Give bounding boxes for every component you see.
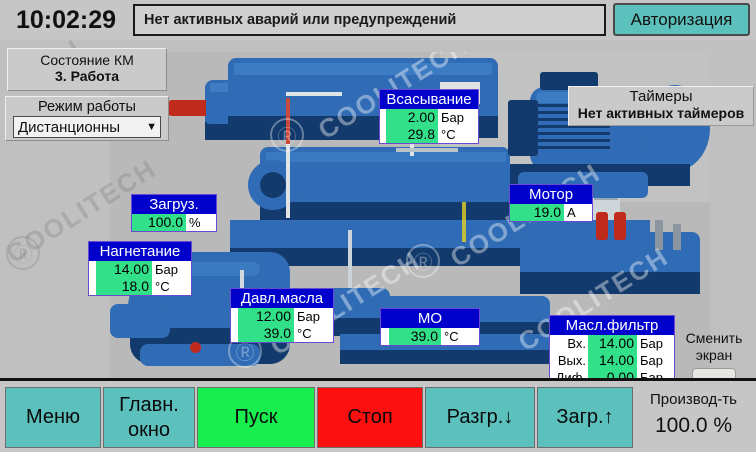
oil-filter-row-differential: Диф. 0.00 Бар	[550, 369, 674, 378]
motor-title: Мотор	[510, 185, 592, 204]
main-window-label-line1: Главн.	[119, 393, 179, 418]
load-measurement-box[interactable]: Загруз. 100.0 %	[131, 194, 217, 232]
timers-value: Нет активных таймеров	[569, 105, 753, 121]
load-unit: %	[186, 214, 216, 231]
oil-filter-row-inlet: Вх. 14.00 Бар	[550, 335, 674, 352]
oil-pressure-value: 12.00	[238, 308, 294, 325]
suction-measurement-box[interactable]: Всасывание 2.00 Бар 29.8 °C	[379, 89, 479, 144]
oil-temperature-value: 39.0	[238, 325, 294, 342]
oil-temperature-unit: °C	[294, 325, 333, 342]
main-window-label-line2: окно	[119, 418, 179, 443]
operating-mode-value: Дистанционны	[18, 119, 120, 136]
oil-filter-outlet-label: Вых.	[550, 352, 588, 369]
oil-pressure-unit: Бар	[294, 308, 333, 325]
operating-mode-select[interactable]: Дистанционны ▼	[13, 116, 161, 138]
oil-filter-diff-value: 0.00	[588, 369, 637, 378]
oil-filter-inlet-unit: Бар	[637, 335, 673, 352]
suction-temperature-unit: °C	[438, 126, 478, 143]
discharge-title: Нагнетание	[89, 242, 191, 261]
oil-filter-diff-unit: Бар	[637, 369, 673, 378]
suction-row-pressure: 2.00 Бар	[380, 109, 478, 126]
discharge-pressure-value: 14.00	[96, 261, 152, 278]
oil-pressure-title: Давл.масла	[231, 289, 333, 308]
clock-display: 10:02:29	[0, 0, 132, 40]
motor-current-unit: A	[564, 204, 592, 221]
discharge-temperature-value: 18.0	[96, 278, 152, 295]
suction-row-temperature: 29.8 °C	[380, 126, 478, 143]
load-row: 100.0 %	[132, 214, 216, 231]
hmi-screen: 10:02:29 Нет активных аварий или предупр…	[0, 0, 756, 452]
main-window-button[interactable]: Главн. окно	[103, 387, 195, 448]
discharge-pressure-unit: Бар	[152, 261, 191, 278]
oil-filter-title: Масл.фильтр	[550, 316, 674, 335]
oil-pressure-measurement-box[interactable]: Давл.масла 12.00 Бар 39.0 °C	[230, 288, 334, 343]
discharge-row-pressure: 14.00 Бар	[89, 261, 191, 278]
oil-filter-measurement-box[interactable]: Масл.фильтр Вх. 14.00 Бар Вых. 14.00 Бар…	[549, 315, 675, 378]
oil-filter-inlet-value: 14.00	[588, 335, 637, 352]
oil-filter-inlet-label: Вх.	[550, 335, 588, 352]
change-screen-label-line1: Сменить	[678, 330, 750, 347]
change-screen-control[interactable]: Сменить экран	[678, 330, 750, 378]
mo-temperature-value: 39.0	[389, 328, 441, 345]
load-value: 100.0	[132, 214, 186, 231]
mo-row-temperature: 39.0 °C	[381, 328, 479, 345]
mo-measurement-box[interactable]: МО 39.0 °C	[380, 308, 480, 346]
timers-title: Таймеры	[569, 88, 753, 105]
km-state-value: 3. Работа	[8, 68, 166, 84]
motor-row-current: 19.0 A	[510, 204, 592, 221]
change-screen-label-line2: экран	[678, 347, 750, 364]
alarm-message-field[interactable]: Нет активных аварий или предупреждений	[133, 4, 606, 36]
capacity-label: Производ-ть	[636, 387, 751, 412]
load-button[interactable]: Загр.↑	[537, 387, 633, 448]
capacity-indicator: Производ-ть 100.0 %	[636, 387, 751, 448]
mo-temperature-unit: °C	[441, 328, 479, 345]
change-screen-button[interactable]	[692, 368, 736, 378]
watermark-badge: Ⓡ	[6, 236, 40, 270]
operating-mode-label: Режим работы	[6, 99, 168, 115]
discharge-temperature-unit: °C	[152, 278, 191, 295]
capacity-value: 100.0 %	[636, 412, 751, 440]
km-state-panel: Состояние КМ 3. Работа	[7, 48, 167, 91]
load-title: Загруз.	[132, 195, 216, 214]
motor-current-value: 19.0	[510, 204, 564, 221]
timers-panel: Таймеры Нет активных таймеров	[568, 86, 754, 126]
menu-button[interactable]: Меню	[5, 387, 101, 448]
oil-filter-diff-label: Диф.	[550, 369, 588, 378]
suction-temperature-value: 29.8	[386, 126, 438, 143]
authorization-button[interactable]: Авторизация	[613, 3, 750, 36]
operating-mode-panel: Режим работы Дистанционны ▼	[5, 96, 169, 141]
suction-pressure-unit: Бар	[438, 109, 478, 126]
discharge-row-temperature: 18.0 °C	[89, 278, 191, 295]
oil-pressure-row-pressure: 12.00 Бар	[231, 308, 333, 325]
main-process-view: COOLITECH Ⓡ COOLITECH Ⓡ COOLITECH Ⓡ COOL…	[0, 40, 756, 378]
suction-title: Всасывание	[380, 90, 478, 109]
start-button[interactable]: Пуск	[197, 387, 315, 448]
oil-filter-outlet-unit: Бар	[637, 352, 673, 369]
unload-button[interactable]: Разгр.↓	[425, 387, 535, 448]
suction-pressure-value: 2.00	[386, 109, 438, 126]
mo-title: МО	[381, 309, 479, 328]
oil-filter-outlet-value: 14.00	[588, 352, 637, 369]
motor-measurement-box[interactable]: Мотор 19.0 A	[509, 184, 593, 222]
discharge-measurement-box[interactable]: Нагнетание 14.00 Бар 18.0 °C	[88, 241, 192, 296]
bottom-button-bar: Меню Главн. окно Пуск Стоп Разгр.↓ Загр.…	[0, 378, 756, 452]
oil-pressure-row-temperature: 39.0 °C	[231, 325, 333, 342]
stop-button[interactable]: Стоп	[317, 387, 423, 448]
km-state-title: Состояние КМ	[8, 52, 166, 68]
chevron-down-icon: ▼	[146, 121, 157, 133]
oil-filter-row-outlet: Вых. 14.00 Бар	[550, 352, 674, 369]
